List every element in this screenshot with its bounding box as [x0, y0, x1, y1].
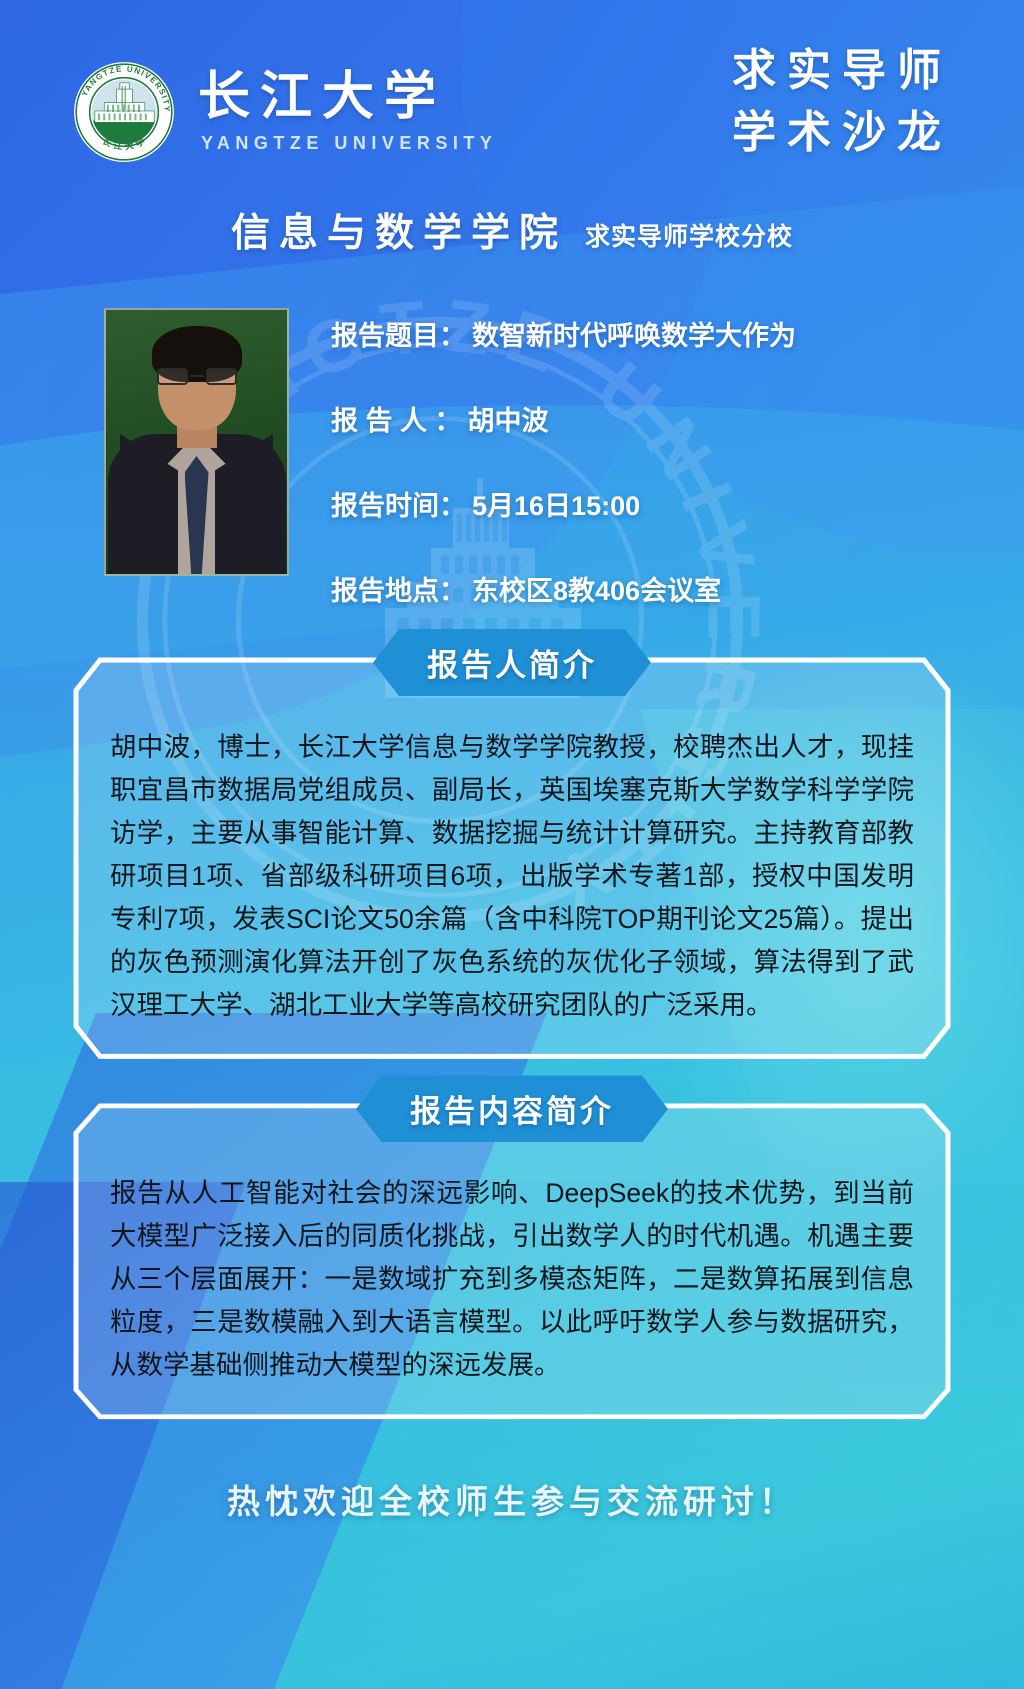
university-crest-icon: YANGTZE UNIVERSITY 长江大学 — [72, 60, 176, 164]
info-row-time: 报告时间： 5月16日15:00 — [331, 484, 952, 523]
university-name-en: YANGTZE UNIVERSITY — [198, 133, 497, 154]
salon-title-line2: 学术沙龙 — [732, 102, 952, 164]
info-value-speaker: 胡中波 — [468, 399, 549, 438]
department-name: 信息与数学学院 — [231, 202, 567, 258]
bio-text: 胡中波，博士，长江大学信息与数学学院教授，校聘杰出人才，现挂职宜昌市数据局党组成… — [110, 726, 914, 1026]
portrait-glasses-icon — [157, 368, 237, 385]
footer-message: 热忱欢迎全校师生参与交流研讨！ — [0, 1475, 1024, 1523]
info-value-location: 东校区8教406会议室 — [472, 569, 721, 608]
info-label-speaker: 报 告 人 ： — [331, 399, 462, 438]
info-value-time: 5月16日15:00 — [472, 484, 640, 523]
event-info-lines: 报告题目： 数智新时代呼唤数学大作为 报 告 人 ： 胡中波 报告时间： 5月1… — [331, 308, 952, 608]
bio-ribbon-label: 报告人简介 — [373, 629, 651, 696]
poster-header: YANGTZE UNIVERSITY 长江大学 长江大学 YANGTZE UNI… — [0, 0, 1024, 180]
salon-title-block: 求实导师 学术沙龙 — [732, 40, 952, 165]
abstract-ribbon-label: 报告内容简介 — [356, 1075, 668, 1142]
speaker-bio-panel: 报告人简介 胡中波，博士，长江大学信息与数学学院教授，校聘杰出人才，现挂职宜昌市… — [72, 656, 952, 1060]
speaker-portrait — [104, 308, 289, 576]
branch-name: 求实导师学校分校 — [585, 217, 793, 258]
salon-title-line1: 求实导师 — [732, 40, 952, 102]
info-value-title: 数智新时代呼唤数学大作为 — [472, 314, 796, 353]
university-name-block: 长江大学 YANGTZE UNIVERSITY — [198, 70, 497, 154]
info-row-speaker: 报 告 人 ： 胡中波 — [331, 399, 952, 438]
info-row-location: 报告地点： 东校区8教406会议室 — [331, 569, 952, 608]
info-label-time: 报告时间： — [331, 484, 466, 523]
info-label-location: 报告地点： — [331, 569, 466, 608]
poster-footer: 热忱欢迎全校师生参与交流研讨！ — [0, 1475, 1024, 1523]
poster-root: YANGTZE UNIVERSITY — [0, 0, 1024, 1689]
abstract-panel: 报告内容简介 报告从人工智能对社会的深远影响、DeepSeek的技术优势，到当前… — [72, 1102, 952, 1421]
university-name-cn: 长江大学 — [198, 70, 497, 125]
university-logo: YANGTZE UNIVERSITY 长江大学 长江大学 YANGTZE UNI… — [72, 60, 497, 164]
event-info-section: 报告题目： 数智新时代呼唤数学大作为 报 告 人 ： 胡中波 报告时间： 5月1… — [0, 308, 1024, 608]
info-label-title: 报告题目： — [331, 314, 466, 353]
subtitle-bar: 信息与数学学院 求实导师学校分校 — [0, 202, 1024, 258]
info-row-title: 报告题目： 数智新时代呼唤数学大作为 — [331, 314, 952, 353]
abstract-text: 报告从人工智能对社会的深远影响、DeepSeek的技术优势，到当前大模型广泛接入… — [110, 1172, 914, 1387]
